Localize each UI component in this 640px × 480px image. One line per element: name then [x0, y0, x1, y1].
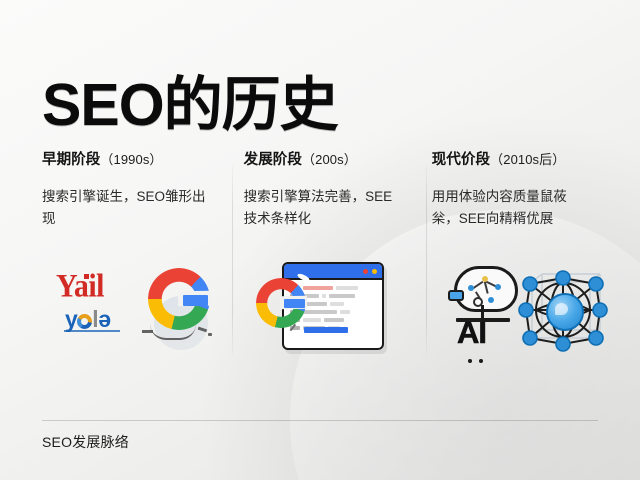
footer-label: SEO发展脉络	[42, 432, 129, 452]
timeline-column-early: 早期阶段（1990s） 搜索引擎诞生，SEO雏形出现	[42, 148, 226, 360]
timeline-column-growth: 发展阶段（200s） 搜索引擎算法完善，SEE技术条样化	[226, 148, 414, 360]
column-heading-modern-label: 现代价段	[432, 152, 490, 168]
column-body-early: 搜索引擎诞生，SEO雏形出现	[42, 186, 207, 230]
footer-divider	[42, 420, 598, 421]
page-title: SEO的历史	[42, 75, 338, 135]
column-heading-growth: 发展阶段（200s）	[244, 148, 400, 169]
column-heading-growth-label: 发展阶段	[244, 152, 302, 168]
slide-canvas: SEO的历史 早期阶段（1990s） 搜索引擎诞生，SEO雏形出现 发展阶段（2…	[0, 0, 640, 480]
column-heading-modern: 现代价段（2010s后）	[432, 148, 584, 169]
column-heading-early-period: （1990s）	[100, 152, 162, 167]
column-heading-early: 早期阶段（1990s）	[42, 148, 212, 169]
column-body-modern: 用用体验内容质量鼠莜枀，SEE向精糈优展	[432, 186, 584, 230]
timeline-columns: 早期阶段（1990s） 搜索引擎诞生，SEO雏形出现 发展阶段（200s） 搜索…	[42, 148, 598, 360]
timeline-column-modern: 现代价段（2010s后） 用用体验内容质量鼠莜枀，SEE向精糈优展	[414, 148, 598, 360]
column-body-growth: 搜索引擎算法完善，SEE技术条样化	[244, 186, 400, 230]
column-heading-modern-period: （2010s后）	[490, 152, 565, 167]
column-heading-growth-period: （200s）	[302, 152, 357, 167]
column-heading-early-label: 早期阶段	[42, 152, 100, 168]
